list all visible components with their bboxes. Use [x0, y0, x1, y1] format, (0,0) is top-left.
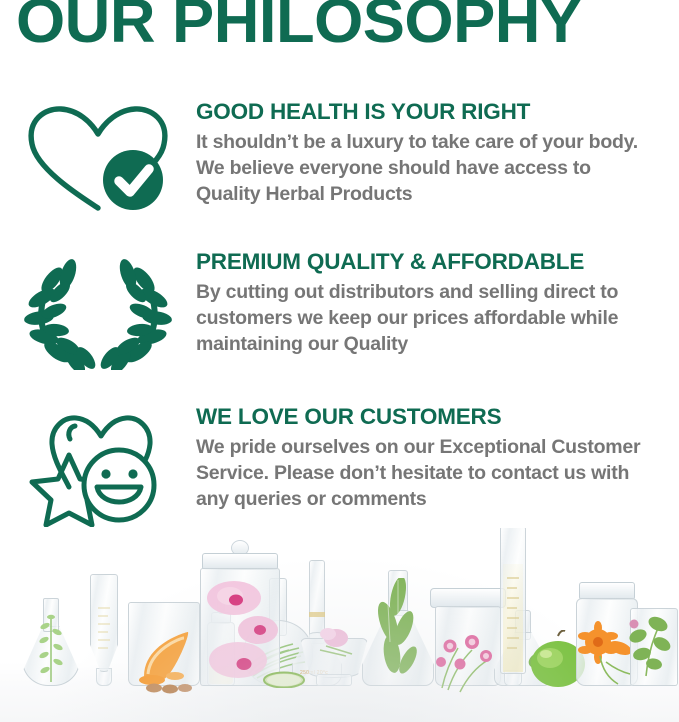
philosophy-page: OUR PHILOSOPHY GOOD HEALTH IS YOUR RIGHT… [0, 0, 679, 722]
heart-check-icon-cell [0, 100, 196, 216]
heart-star-smiley-icon-cell [0, 405, 196, 527]
feature-text-premium-quality: PREMIUM QUALITY & AFFORDABLE By cutting … [196, 250, 670, 358]
feature-text-good-health: GOOD HEALTH IS YOUR RIGHT It shouldn’t b… [196, 100, 670, 208]
laurel-wreath-icon-cell [0, 250, 196, 370]
smiley-eye-right [128, 469, 137, 478]
page-title: OUR PHILOSOPHY [16, 0, 679, 53]
feature-body: It shouldn’t be a luxury to take care of… [196, 130, 658, 207]
smiley-mouth [97, 487, 141, 502]
feature-row-we-love-customers: WE LOVE OUR CUSTOMERS We pride ourselves… [0, 405, 679, 527]
feature-title: WE LOVE OUR CUSTOMERS [196, 405, 658, 429]
check-badge-circle [103, 150, 163, 210]
feature-row-good-health: GOOD HEALTH IS YOUR RIGHT It shouldn’t b… [0, 100, 679, 216]
heart-check-icon [23, 104, 173, 216]
feature-body: By cutting out distributors and selling … [196, 280, 658, 357]
feature-body: We pride ourselves on our Exceptional Cu… [196, 435, 658, 512]
heart-star-smiley-icon [23, 409, 173, 527]
feature-text-we-love-customers: WE LOVE OUR CUSTOMERS We pride ourselves… [196, 405, 670, 513]
feature-title: GOOD HEALTH IS YOUR RIGHT [196, 100, 658, 124]
laurel-wreath-icon [23, 254, 173, 370]
lab-glassware-photo: 250ml 20°c [0, 528, 679, 722]
heart-highlight [69, 426, 75, 439]
feature-row-premium-quality: PREMIUM QUALITY & AFFORDABLE By cutting … [0, 250, 679, 370]
smiley-eye-left [101, 469, 110, 478]
photo-haze [0, 528, 679, 722]
feature-title: PREMIUM QUALITY & AFFORDABLE [196, 250, 658, 274]
